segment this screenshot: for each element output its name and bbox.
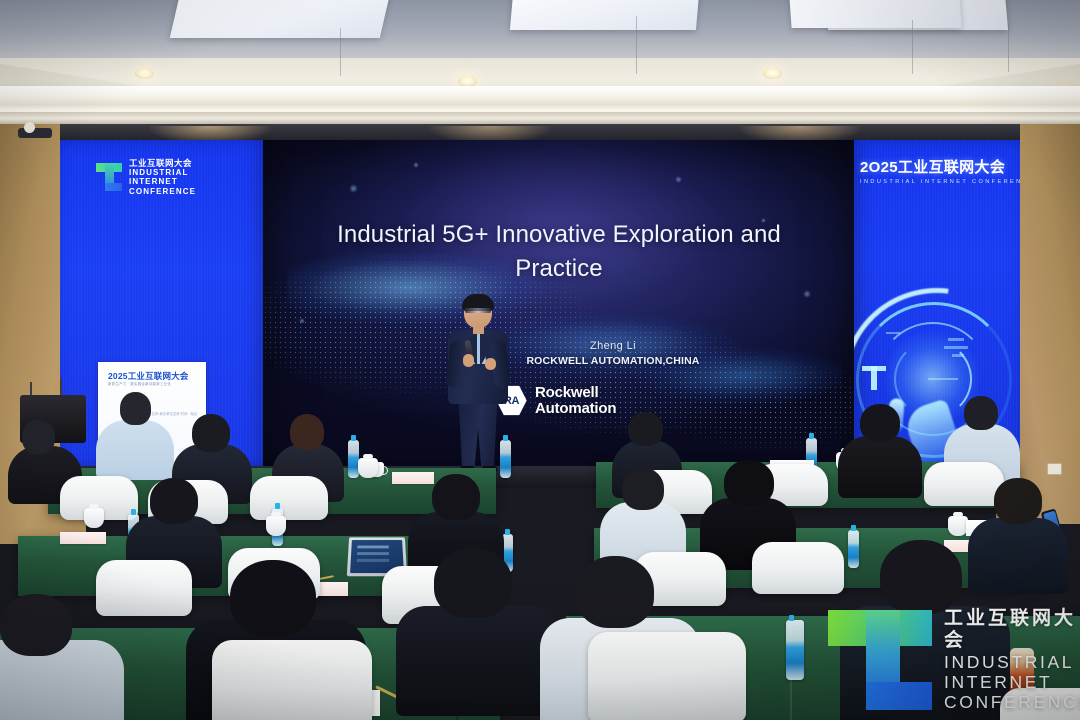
skylight-panel: [170, 0, 392, 38]
art-detail: [886, 332, 900, 334]
person-body: [838, 436, 922, 498]
logo-en-line2: INTERNET: [129, 177, 196, 186]
ceiling-seam: [340, 28, 341, 76]
person-head: [434, 548, 512, 618]
person-body: [396, 606, 556, 716]
person-head: [432, 474, 480, 520]
person-head: [0, 594, 72, 656]
art-detail: [928, 378, 958, 380]
logo-chinese-text: 工业互联网大会: [129, 158, 196, 168]
ceiling-downlight: [763, 68, 782, 79]
audience-person: [396, 548, 556, 708]
art-detail: [944, 346, 968, 349]
person-body: [96, 420, 174, 480]
ceiling-downlight: [135, 68, 154, 79]
art-t-glyph-icon: [862, 366, 886, 390]
slide-speaker-name: Zheng Li: [483, 340, 743, 352]
watermark-chinese: 工业互联网大会: [944, 608, 1080, 652]
art-detail: [948, 338, 964, 341]
main-presentation-screen: Industrial 5G+ Innovative Exploration an…: [263, 140, 855, 472]
person-head: [290, 414, 324, 450]
person-head: [964, 396, 998, 430]
conference-watermark: 工业互联网大会 INDUSTRIAL INTERNET CONFERENCE: [828, 604, 1080, 716]
slide-title: Industrial 5G+ Innovative Exploration an…: [323, 218, 795, 286]
chair: [588, 632, 746, 720]
water-bottle: [348, 440, 359, 478]
water-bottle: [786, 620, 804, 680]
watermark-en-line2: INTERNET: [944, 672, 1080, 692]
tea-cup: [358, 458, 378, 478]
conference-logo-left: 工业互联网大会 INDUSTRIAL INTERNET CONFERENCE: [96, 158, 196, 196]
person-head: [22, 420, 55, 454]
security-camera-icon: [24, 122, 35, 133]
bokeh-dot: [413, 162, 419, 168]
ceiling-seam: [912, 20, 913, 74]
bokeh-dot: [803, 290, 811, 298]
banner-subtitle: 新质生产力 · 数实融合新动能新工业化: [108, 381, 171, 386]
person-head: [994, 478, 1042, 524]
chair: [212, 640, 372, 720]
person-head: [230, 560, 316, 636]
person-head: [724, 460, 774, 506]
rockwell-line1: Rockwell: [535, 385, 616, 400]
person-head: [576, 556, 654, 628]
speaker-glasses-icon: [465, 308, 491, 313]
watermark-en-line3: CONFERENCE: [944, 692, 1080, 712]
audience-person: [600, 468, 686, 564]
right-logo-english: INDUSTRIAL INTERNET CONFERENCE: [860, 179, 1020, 185]
conference-photo: 工业互联网大会 INDUSTRIAL INTERNET CONFERENCE I…: [0, 0, 1080, 720]
person-head: [622, 468, 664, 510]
logo-en-line3: CONFERENCE: [129, 187, 196, 196]
conference-logo-right: 2O25工业互联网大会 INDUSTRIAL INTERNET CONFEREN…: [860, 156, 1020, 185]
ceiling: [0, 0, 1080, 136]
person-head: [150, 478, 198, 524]
ceiling-seam: [1008, 24, 1009, 72]
note-paper: [60, 532, 106, 544]
watermark-en-line1: INDUSTRIAL: [944, 652, 1080, 672]
tea-cup: [948, 516, 968, 536]
logo-en-line1: INDUSTRIAL: [129, 168, 196, 177]
audience-person: [838, 404, 922, 496]
speaker-hand: [463, 354, 474, 367]
t-mark-icon: [828, 610, 932, 710]
speaker-legs: [456, 400, 500, 470]
person-head: [192, 414, 230, 452]
tea-cup: [84, 508, 104, 528]
audience-person: [0, 594, 124, 720]
person-head: [120, 392, 151, 425]
chair: [752, 542, 844, 594]
rockwell-line2: Automation: [535, 401, 616, 416]
skylight-panel: [788, 0, 961, 28]
tea-cup: [266, 516, 286, 536]
bokeh-dot: [349, 184, 358, 193]
ceiling-seam: [636, 16, 637, 74]
water-bottle: [500, 440, 511, 478]
audience-person: [96, 392, 174, 476]
right-logo-chinese: 2O25工业互联网大会: [860, 156, 1020, 177]
speaker-hand: [485, 358, 496, 370]
wall-socket: [1047, 463, 1062, 475]
bokeh-dot: [299, 318, 305, 324]
person-head: [860, 404, 900, 442]
skylight-panel: [510, 0, 700, 30]
t-mark-icon: [96, 163, 122, 191]
bokeh-dot: [675, 176, 682, 183]
chair: [250, 476, 328, 520]
art-detail: [952, 354, 964, 357]
person-head: [628, 412, 663, 446]
person-head: [880, 540, 962, 614]
speaker-mount: [18, 128, 52, 138]
